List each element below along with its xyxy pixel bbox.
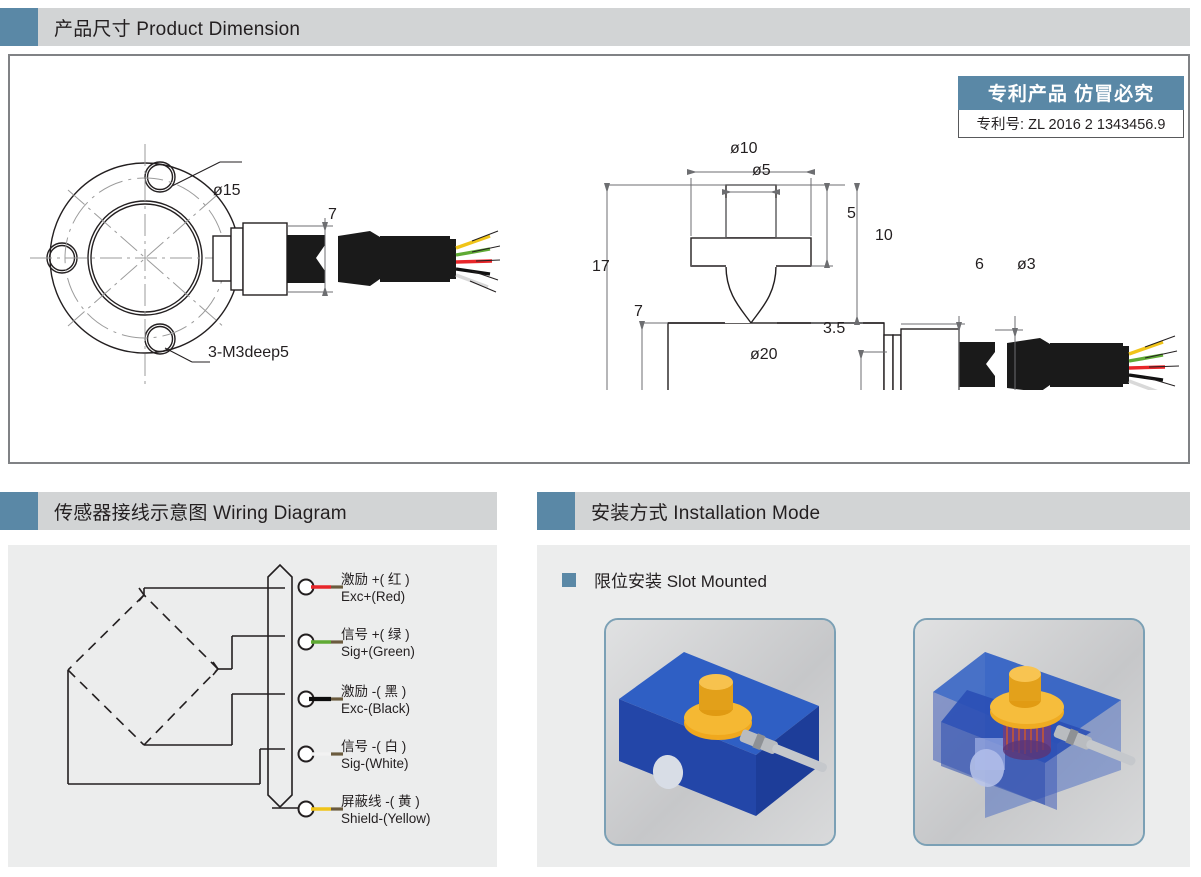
side-view-drawing bbox=[595, 130, 1190, 395]
terminal-symbol-exc-minus bbox=[297, 690, 345, 713]
patent-badge: 专利产品 仿冒必究 专利号: ZL 2016 2 1343456.9 bbox=[958, 76, 1184, 138]
section-header-wiring-diagram: 传感器接线示意图 Wiring Diagram bbox=[0, 492, 497, 530]
section-header-installation-mode: 安装方式 Installation Mode bbox=[537, 492, 1190, 530]
section-title-product-dimension: 产品尺寸 Product Dimension bbox=[38, 14, 300, 41]
dim-label-bore: ø15 bbox=[213, 182, 241, 200]
accent-tab-icon bbox=[537, 492, 575, 530]
terminal-label-cn: 屏蔽线 -( 黄 ) bbox=[341, 793, 431, 810]
terminal-label-sig-plus: 信号 +( 绿 ) Sig+(Green) bbox=[341, 626, 415, 660]
dim-label-cable-axis: 3.5 bbox=[823, 320, 845, 338]
section-title-installation-mode: 安装方式 Installation Mode bbox=[575, 498, 820, 525]
dim-label-threads: 3-M3deep5 bbox=[208, 344, 289, 362]
dim-label-head-height: 10 bbox=[875, 227, 893, 245]
terminal-symbol-shield bbox=[297, 800, 345, 823]
accent-tab-icon bbox=[0, 8, 38, 46]
terminal-label-cn: 信号 -( 白 ) bbox=[341, 738, 409, 755]
terminal-label-exc-minus: 激励 -( 黑 ) Exc-(Black) bbox=[341, 683, 410, 717]
terminal-symbol-exc-plus bbox=[297, 578, 345, 601]
dim-label-top-od: ø10 bbox=[730, 140, 758, 158]
terminal-label-en: Sig-(White) bbox=[341, 755, 409, 772]
dim-label-gland: 6 bbox=[975, 256, 984, 274]
patent-headline: 专利产品 仿冒必究 bbox=[958, 76, 1184, 110]
terminal-label-en: Exc-(Black) bbox=[341, 700, 410, 717]
terminal-label-shield: 屏蔽线 -( 黄 ) Shield-(Yellow) bbox=[341, 793, 431, 827]
slot-mounted-transparent-view bbox=[913, 618, 1145, 846]
bullet-square-icon bbox=[562, 573, 576, 587]
dim-label-body-od: ø20 bbox=[750, 346, 778, 364]
section-header-product-dimension: 产品尺寸 Product Dimension bbox=[0, 8, 1190, 46]
section-title-wiring-diagram: 传感器接线示意图 Wiring Diagram bbox=[38, 498, 347, 525]
terminal-label-cn: 激励 -( 黑 ) bbox=[341, 683, 410, 700]
wheatstone-bridge-schematic bbox=[40, 555, 330, 860]
terminal-label-cn: 激励 +( 红 ) bbox=[341, 571, 410, 588]
terminal-label-en: Exc+(Red) bbox=[341, 588, 410, 605]
terminal-label-en: Sig+(Green) bbox=[341, 643, 415, 660]
dim-label-total-height: 17 bbox=[592, 258, 610, 276]
slot-mounted-solid-view bbox=[604, 618, 836, 846]
terminal-symbol-sig-plus bbox=[297, 633, 345, 656]
installation-mode-label: 限位安装 Slot Mounted bbox=[594, 567, 767, 592]
dim-label-body-height: 7 bbox=[634, 303, 643, 321]
installation-mode-item: 限位安装 Slot Mounted bbox=[562, 567, 767, 592]
terminal-label-sig-minus: 信号 -( 白 ) Sig-(White) bbox=[341, 738, 409, 772]
terminal-label-exc-plus: 激励 +( 红 ) Exc+(Red) bbox=[341, 571, 410, 605]
dim-label-cable-length: 7 bbox=[328, 206, 337, 224]
dim-label-boss-height: 5 bbox=[847, 205, 856, 223]
dim-label-top-id: ø5 bbox=[752, 162, 771, 180]
dim-label-cable-od: ø3 bbox=[1017, 256, 1036, 274]
terminal-label-en: Shield-(Yellow) bbox=[341, 810, 431, 827]
accent-tab-icon bbox=[0, 492, 38, 530]
terminal-label-cn: 信号 +( 绿 ) bbox=[341, 626, 415, 643]
terminal-symbol-sig-minus bbox=[297, 745, 345, 768]
